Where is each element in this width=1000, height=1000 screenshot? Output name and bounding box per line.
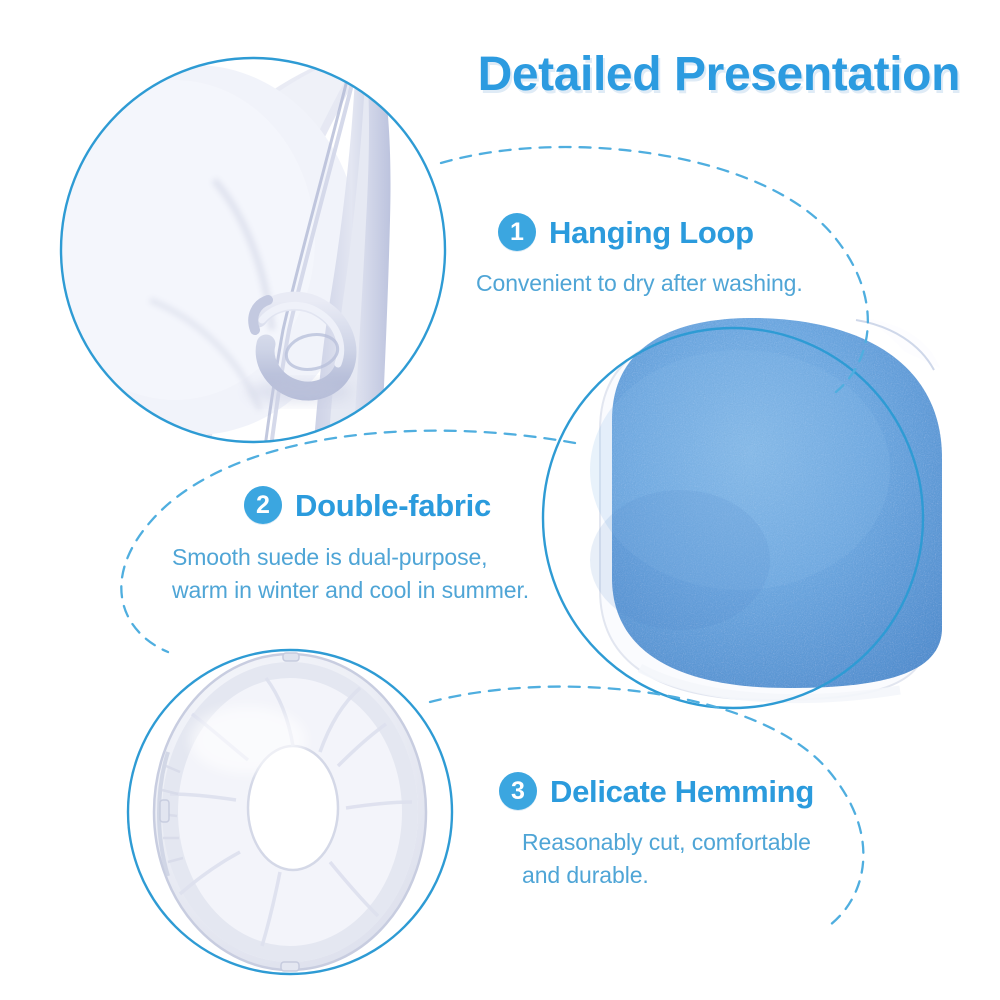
feature-2-body-line-2: warm in winter and cool in summer. [172, 574, 529, 607]
photo-double-fabric [590, 318, 942, 700]
page-title: Detailed Presentation [400, 44, 960, 106]
feature-1-headline: Hanging Loop [549, 217, 754, 248]
hem-tab-left [160, 800, 169, 822]
feature-2-headline: Double-fabric [295, 490, 491, 521]
feature-block-3: 3 Delicate Hemming Reasonably cut, comfo… [499, 772, 814, 891]
feature-block-2: 2 Double-fabric Smooth suede is dual-pur… [244, 486, 529, 606]
feature-1-number-badge: 1 [498, 213, 536, 251]
feature-3-heading: 3 Delicate Hemming [499, 772, 814, 810]
feature-block-1: 1 Hanging Loop Convenient to dry after w… [498, 213, 803, 300]
feature-3-number-badge: 3 [499, 772, 537, 810]
feature-3-body-line-1: Reasonably cut, comfortable [522, 826, 814, 859]
feature-2-body: Smooth suede is dual-purpose, warm in wi… [172, 541, 529, 606]
feature-3-headline: Delicate Hemming [550, 776, 814, 807]
feature-3-body: Reasonably cut, comfortable and durable. [522, 826, 814, 891]
feature-1-heading: 1 Hanging Loop [498, 213, 803, 251]
feature-1-body: Convenient to dry after washing. [476, 267, 803, 300]
infographic-canvas: Detailed Presentation 1 Hanging Loop Con… [0, 0, 1000, 1000]
hem-tab-top [283, 653, 299, 661]
feature-2-number-badge: 2 [244, 486, 282, 524]
feature-1-body-line-1: Convenient to dry after washing. [476, 267, 803, 300]
photo-hanging-loop [30, 52, 455, 470]
photo-delicate-hemming [120, 640, 470, 1000]
feature-2-body-line-1: Smooth suede is dual-purpose, [172, 541, 529, 574]
feature-3-body-line-2: and durable. [522, 859, 814, 892]
hem-tab-bottom [281, 962, 299, 971]
feature-2-heading: 2 Double-fabric [244, 486, 529, 524]
